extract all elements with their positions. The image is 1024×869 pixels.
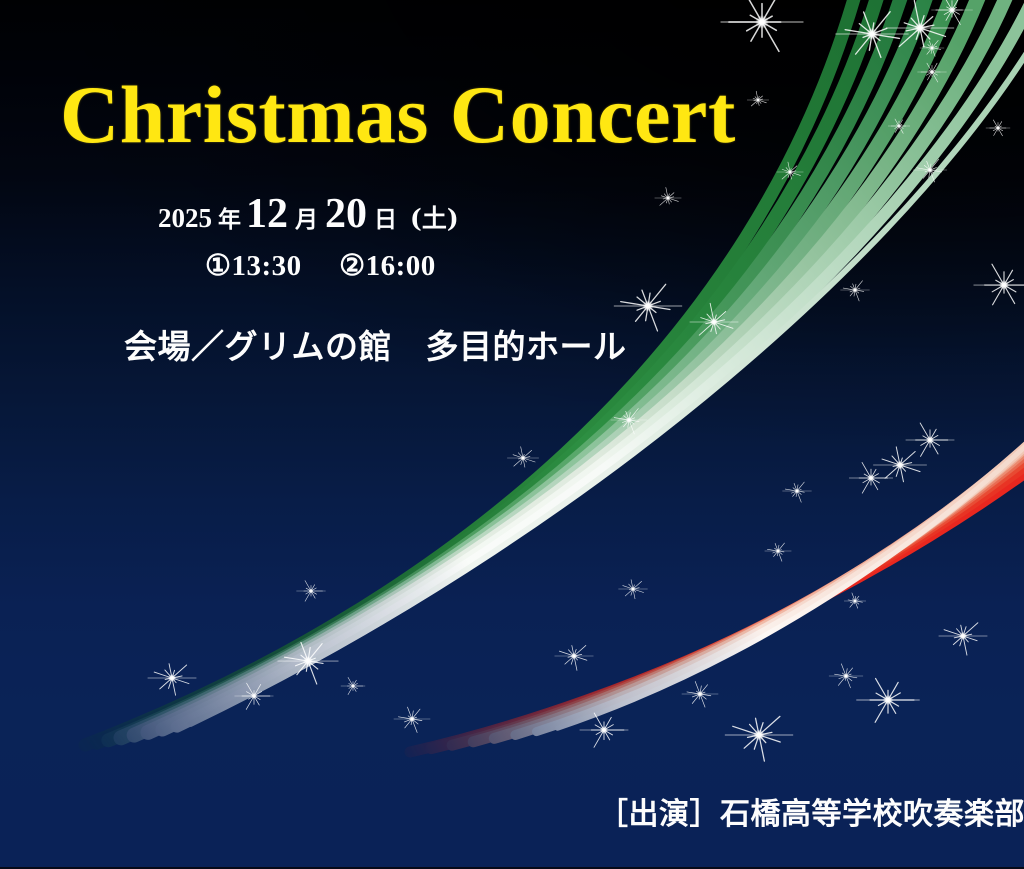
concert-poster: Christmas Concert 2025 年 12 月 20 日 (土) ①… (0, 0, 1024, 869)
showtime-first: ①13:30 (205, 250, 302, 282)
venue-line: 会場／グリムの館 多目的ホール (124, 320, 627, 368)
date-weekday: (土) (404, 199, 459, 235)
date-month: 12 (246, 190, 288, 238)
page-title: Christmas Concert (60, 74, 736, 156)
poster-text-layer: Christmas Concert 2025 年 12 月 20 日 (土) ①… (0, 0, 1024, 867)
date-day: 20 (325, 190, 367, 238)
date-year: 2025 (158, 203, 212, 234)
date-year-kanji: 年 (212, 200, 246, 234)
showtime-line: ①13:30 ②16:00 (205, 248, 436, 283)
date-day-kanji: 日 (367, 200, 404, 234)
showtime-second: ②16:00 (339, 250, 436, 282)
performer-line: ［出演］石橋高等学校吹奏楽部 (598, 789, 1024, 833)
date-month-kanji: 月 (288, 200, 325, 234)
date-line: 2025 年 12 月 20 日 (土) (158, 190, 459, 238)
